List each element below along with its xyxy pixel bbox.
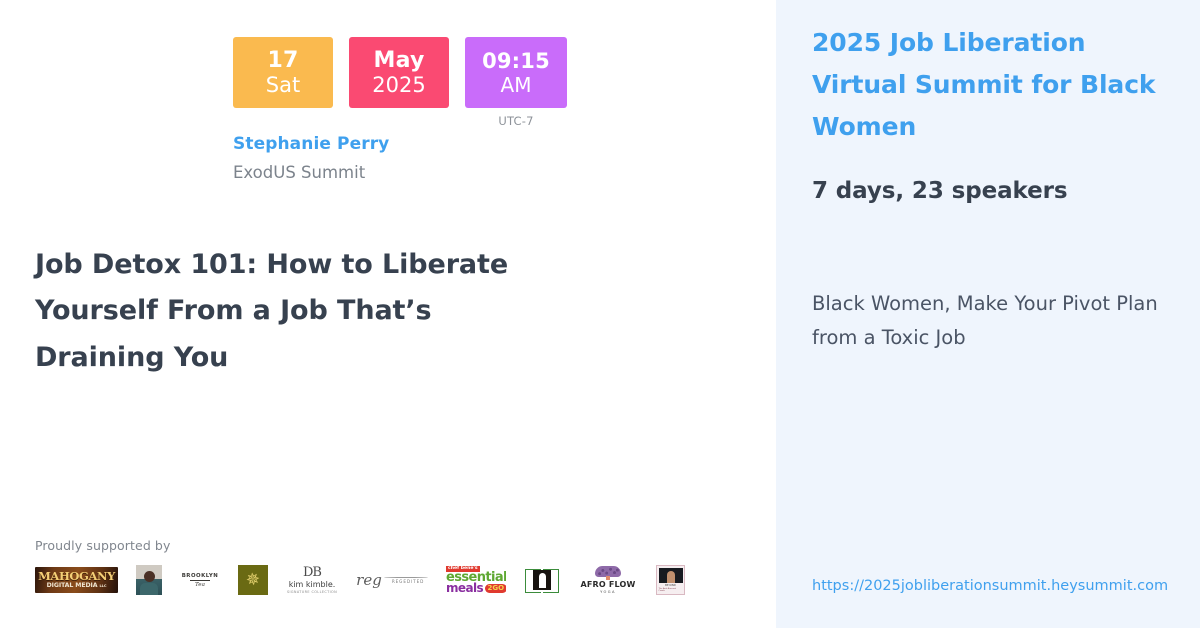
kim-kimble-logo[interactable]: DB kim kimble. SIGNATURE COLLECTION xyxy=(286,565,338,595)
session-title: Job Detox 101: How to Liberate Yourself … xyxy=(35,242,555,381)
book-figure-shape xyxy=(539,573,546,588)
event-promo-card: 17 Sat May 2025 09:15 AM UTC-7 Stephanie… xyxy=(0,0,1200,628)
summit-description: Black Women, Make Your Pivot Plan from a… xyxy=(812,287,1190,354)
afro-yoga-word: YOGA xyxy=(600,590,616,594)
card-photo xyxy=(659,568,683,583)
summit-url[interactable]: https://2025jobliberationsummit.heysummi… xyxy=(812,575,1172,598)
speaker-name[interactable]: Stephanie Perry xyxy=(233,134,389,154)
olive-emblem-icon: ✵ xyxy=(245,571,261,590)
kimble-tagline: SIGNATURE COLLECTION xyxy=(287,590,337,594)
reg-swash: REGEDITED xyxy=(384,574,428,586)
speaker-organization: ExodUS Summit xyxy=(233,163,365,182)
twogo-badge: 2GO xyxy=(485,584,507,593)
summit-meta: 7 days, 23 speakers xyxy=(812,178,1067,204)
date-block-time-wrapper: 09:15 AM UTC-7 xyxy=(465,37,567,128)
month-name: May xyxy=(373,50,424,72)
sponsors-section: Proudly supported by MAHOGANY DIGITAL ME… xyxy=(35,538,685,595)
portrait-head-shape xyxy=(144,571,155,582)
mahogany-wordmark: MAHOGANY xyxy=(38,571,115,583)
mahogany-tagline: DIGITAL MEDIA LLC xyxy=(47,583,107,589)
brooklyn-tea-word: Tea xyxy=(195,582,205,588)
brooklyn-divider xyxy=(190,580,210,581)
year-number: 2025 xyxy=(372,75,425,96)
sponsors-label: Proudly supported by xyxy=(35,538,685,553)
time-meridiem: AM xyxy=(501,75,532,95)
portrait-card-logo[interactable]: BE KIND The Anti-Burnout Coach xyxy=(656,565,685,595)
date-time-strip: 17 Sat May 2025 09:15 AM UTC-7 xyxy=(233,37,567,128)
portrait-body-shape xyxy=(140,583,158,595)
left-content-panel: 17 Sat May 2025 09:15 AM UTC-7 Stephanie… xyxy=(0,0,776,628)
sponsor-logo-row: MAHOGANY DIGITAL MEDIA LLC BROOKLYN Tea … xyxy=(35,565,685,595)
date-block-month: May 2025 xyxy=(349,37,449,108)
day-number: 17 xyxy=(267,50,298,72)
book-icon xyxy=(524,567,560,593)
date-block-time: 09:15 AM xyxy=(465,37,567,108)
speaker-portrait-logo[interactable] xyxy=(136,565,162,595)
card-figure-shape xyxy=(667,571,675,583)
meals-word: meals xyxy=(446,583,483,594)
timezone-label: UTC-7 xyxy=(498,114,533,128)
afro-flow-yoga-logo[interactable]: AFRO FLOW YOGA xyxy=(578,565,638,595)
regedited-logo[interactable]: reg REGEDITED xyxy=(356,567,428,593)
day-name: Sat xyxy=(266,75,300,96)
essential-meals-2go-logo[interactable]: chef bene's essential meals 2GO xyxy=(446,564,506,596)
afro-flow-wordmark: AFRO FLOW xyxy=(580,581,635,589)
olive-emblem-logo[interactable]: ✵ xyxy=(238,565,268,595)
time-value: 09:15 xyxy=(482,51,550,72)
brooklyn-wordmark: BROOKLYN xyxy=(182,573,219,579)
date-block-month-wrapper: May 2025 xyxy=(349,37,449,108)
summit-info-panel: 2025 Job Liberation Virtual Summit for B… xyxy=(776,0,1200,628)
mahogany-digital-media-logo[interactable]: MAHOGANY DIGITAL MEDIA LLC xyxy=(35,567,118,593)
regedited-wordmark: REGEDITED xyxy=(392,579,424,584)
reg-swash-line xyxy=(384,577,428,578)
brooklyn-tea-logo[interactable]: BROOKLYN Tea xyxy=(180,566,220,594)
kimble-monogram: DB xyxy=(303,566,321,579)
open-book-logo[interactable] xyxy=(524,565,560,595)
date-block-day: 17 Sat xyxy=(233,37,333,108)
kimble-wordmark: kim kimble. xyxy=(289,581,336,589)
reg-script-mark: reg xyxy=(356,573,382,588)
summit-title[interactable]: 2025 Job Liberation Virtual Summit for B… xyxy=(812,22,1172,148)
date-block-day-wrapper: 17 Sat xyxy=(233,37,333,108)
card-subtitle: The Anti-Burnout Coach xyxy=(659,588,683,593)
meals-row: meals 2GO xyxy=(446,583,506,594)
